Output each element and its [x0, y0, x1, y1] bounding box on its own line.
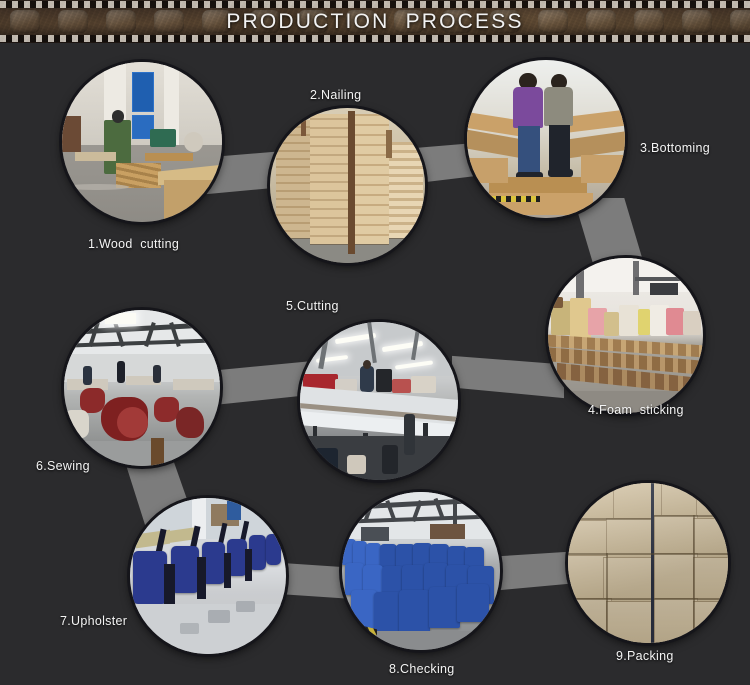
photo-scene-cutting [300, 322, 458, 480]
photo-scene-checking [342, 492, 500, 650]
step-caption-cutting: 5.Cutting [286, 299, 339, 313]
page-title: PRODUCTION PROCESS [0, 0, 750, 43]
step-photo-bottoming[interactable] [467, 60, 625, 218]
step-caption-upholster: 7.Upholster [60, 614, 127, 628]
step-photo-nailing[interactable] [270, 108, 425, 263]
photo-scene-bottoming [467, 60, 625, 218]
step-photo-foam-sticking[interactable] [548, 258, 703, 413]
step-caption-nailing: 2.Nailing [310, 88, 361, 102]
step-caption-foam-sticking: 4.Foam sticking [588, 403, 684, 417]
photo-scene-wood-cutting [62, 62, 222, 222]
step-caption-sewing: 6.Sewing [36, 459, 90, 473]
step-caption-packing: 9.Packing [616, 649, 674, 663]
step-photo-wood-cutting[interactable] [62, 62, 222, 222]
step-caption-wood-cutting: 1.Wood cutting [88, 237, 179, 251]
step-photo-packing[interactable] [568, 483, 728, 643]
connector-5-to-6 [214, 358, 314, 406]
step-caption-bottoming: 3.Bottoming [640, 141, 710, 155]
step-photo-checking[interactable] [342, 492, 500, 650]
step-caption-checking: 8.Checking [389, 662, 455, 676]
photo-scene-foam-sticking [548, 258, 703, 413]
production-process-infographic: PRODUCTION PROCESS [0, 0, 750, 685]
photo-scene-sewing [64, 310, 220, 466]
photo-scene-upholster [130, 498, 286, 654]
step-photo-sewing[interactable] [64, 310, 220, 466]
photo-scene-nailing [270, 108, 425, 263]
step-photo-cutting[interactable] [300, 322, 458, 480]
step-photo-upholster[interactable] [130, 498, 286, 654]
photo-scene-packing [568, 483, 728, 643]
